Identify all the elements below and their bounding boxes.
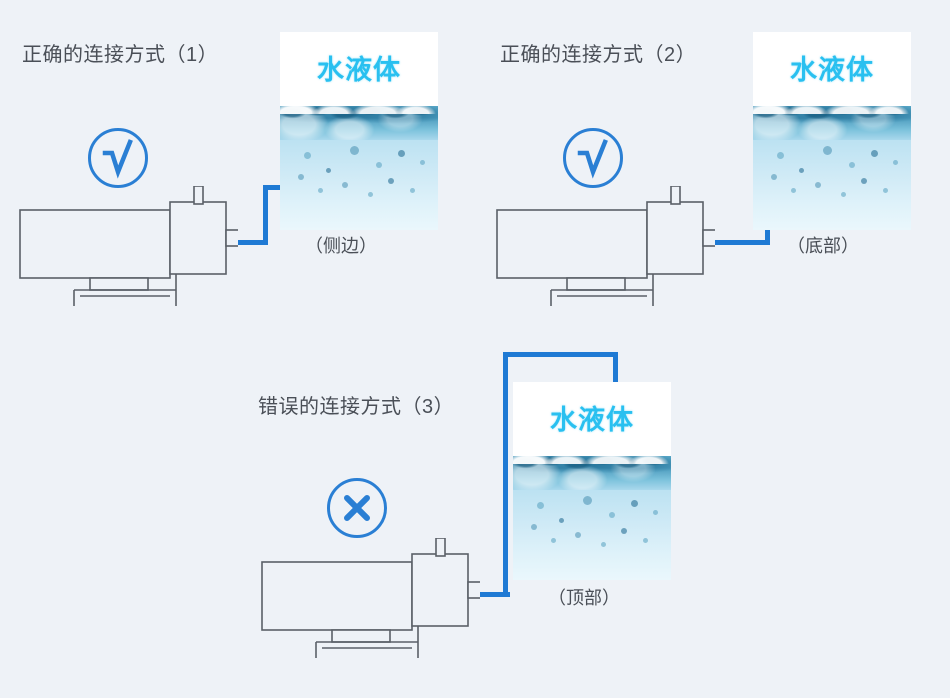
panel-3-title: 错误的连接方式（3） (258, 390, 454, 419)
pipe-1-vertical (263, 185, 268, 245)
panel-2-title: 正确的连接方式（2） (500, 38, 696, 67)
pump-assembly-3 (260, 538, 480, 658)
check-circle-icon (563, 128, 623, 188)
pipe-3-vertical-drop (613, 352, 618, 384)
water-label-2: 水液体 (753, 48, 911, 87)
panel-3-caption: （顶部） (548, 584, 620, 610)
panel-1-caption: （侧边） (305, 232, 377, 258)
water-tank-2: 水液体 (753, 32, 911, 230)
panel-1-title: 正确的连接方式（1） (22, 38, 218, 67)
check-glyph (91, 131, 145, 185)
check-circle-icon (88, 128, 148, 188)
pump-assembly-2 (495, 186, 715, 306)
pipe-3-horizontal-top (503, 352, 618, 357)
panel-2-caption: （底部） (787, 232, 859, 258)
cross-circle-icon (327, 478, 387, 538)
water-tank-1: 水液体 (280, 32, 438, 230)
water-label-3: 水液体 (513, 398, 671, 437)
water-label-1: 水液体 (280, 48, 438, 87)
pump-assembly-1 (18, 186, 238, 306)
diagram-canvas: 正确的连接方式（1） 水液体 (0, 0, 950, 698)
pipe-3-vertical-rise (503, 352, 508, 597)
pipe-2-vertical (765, 228, 770, 245)
check-glyph (566, 131, 620, 185)
water-tank-3: 水液体 (513, 382, 671, 580)
cross-glyph (330, 481, 384, 535)
